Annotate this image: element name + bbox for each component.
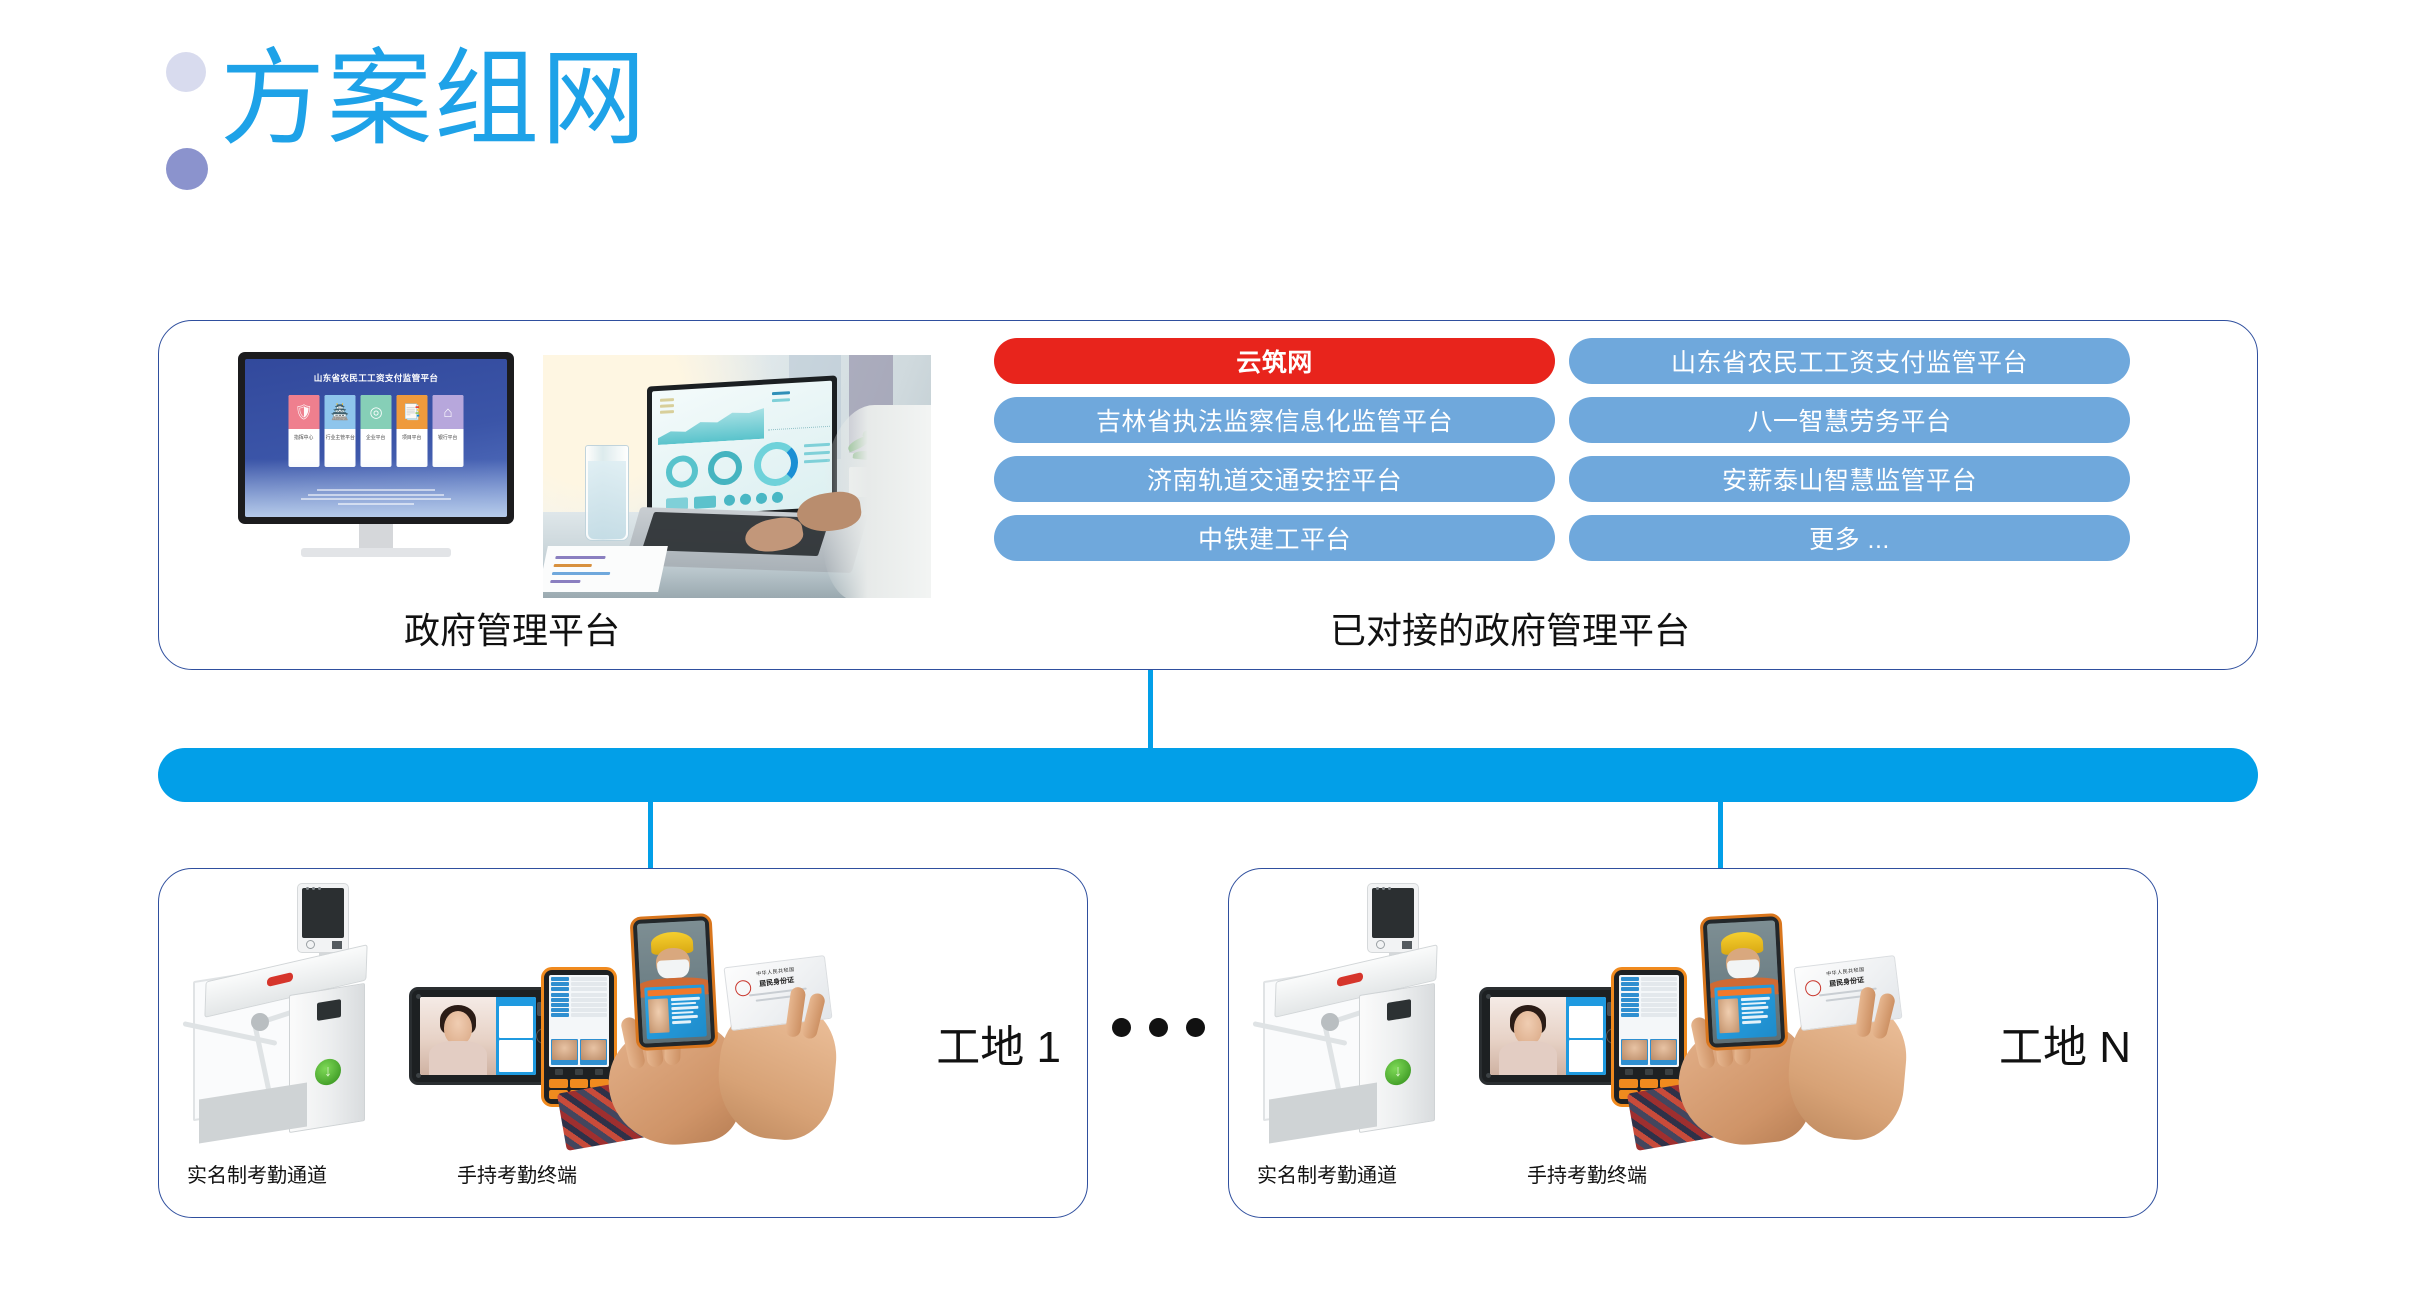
page-title-block: 方案组网 bbox=[158, 20, 958, 195]
connected-platform-button-grid: 云筑网 山东省农民工工资支付监管平台 吉林省执法监察信息化监管平台 八一智慧劳务… bbox=[994, 338, 2130, 574]
platform-button-yunzhuwang[interactable]: 云筑网 bbox=[994, 338, 1555, 384]
turnstile-gate-image: ↓ bbox=[1249, 881, 1459, 1143]
monitor-card: 📑 项目平台 bbox=[397, 395, 428, 467]
monitor-screen-title: 山东省农民工工资支付监管平台 bbox=[245, 372, 507, 384]
monitor-neck bbox=[359, 524, 393, 548]
monitor-card-label: 项目平台 bbox=[402, 435, 421, 442]
ellipsis-dot bbox=[1149, 1018, 1168, 1037]
site-label-1: 工地 1 bbox=[936, 1011, 1061, 1075]
connector-site-1 bbox=[648, 802, 653, 868]
face-recognition-terminal bbox=[1367, 883, 1419, 953]
connector-site-2 bbox=[1718, 802, 1723, 868]
card-reader-icon bbox=[1387, 999, 1411, 1021]
shield-check-icon: 🛡 bbox=[289, 395, 320, 429]
monitor-card: 🛡 指挥中心 bbox=[289, 395, 320, 467]
monitor-card: ◎ 企业平台 bbox=[361, 395, 392, 467]
platform-button-zhongtiejiangong[interactable]: 中铁建工平台 bbox=[994, 515, 1555, 561]
monitor-card: 🏯 行业主管平台 bbox=[325, 395, 356, 467]
bank-house-icon: ⌂ bbox=[433, 395, 464, 429]
camera-lens-icon bbox=[1376, 940, 1385, 949]
smartphone-attendance-app bbox=[1700, 913, 1789, 1051]
worker-info-card bbox=[644, 984, 707, 1039]
laptop-screen bbox=[652, 381, 832, 518]
laptop-dashboard-photo bbox=[543, 355, 931, 598]
ellipsis-dot bbox=[1186, 1018, 1205, 1037]
platform-button-row: 济南轨道交通安控平台 安薪泰山智慧监管平台 bbox=[994, 456, 2130, 502]
ellipsis-dot bbox=[1112, 1018, 1131, 1037]
platform-button-row: 云筑网 山东省农民工工资支付监管平台 bbox=[994, 338, 2130, 384]
turnstile-gate-image: ↓ bbox=[179, 881, 389, 1143]
smartphone-attendance-app bbox=[630, 913, 719, 1051]
decor-dot-bottom-icon bbox=[166, 148, 208, 190]
document-icon: 📑 bbox=[397, 395, 428, 429]
hand-phone-idcard-scene: 中华人民共和国 居民身份证 bbox=[607, 907, 837, 1155]
face-recognition-terminal bbox=[297, 883, 349, 953]
monitor-footer-lines bbox=[245, 487, 507, 508]
monitor-bezel: 山东省农民工工资支付监管平台 🛡 指挥中心 🏯 行业主管平台 ◎ 企业平台 bbox=[238, 352, 514, 524]
caption-connected-platforms: 已对接的政府管理平台 bbox=[1330, 602, 1690, 654]
monitor-card-label: 行业主管平台 bbox=[325, 435, 354, 442]
connector-top bbox=[1148, 670, 1153, 755]
face-mask-icon bbox=[1727, 959, 1760, 979]
tower-icon: 🏯 bbox=[325, 395, 356, 429]
monitor-card-label: 指挥中心 bbox=[294, 435, 313, 442]
site-box-1: ↓ bbox=[158, 868, 1088, 1218]
monitor-card-label: 企业平台 bbox=[366, 435, 385, 442]
government-platform-monitor-image: 山东省农民工工资支付监管平台 🛡 指挥中心 🏯 行业主管平台 ◎ 企业平台 bbox=[232, 352, 520, 567]
rugged-tablet-terminal bbox=[1479, 987, 1631, 1085]
worker-info-card bbox=[1714, 984, 1777, 1039]
sites-ellipsis bbox=[1112, 1018, 1205, 1037]
slide-canvas: 方案组网 山东省农民工工资支付监管平台 🛡 指挥中心 🏯 行业主管平台 ◎ bbox=[0, 0, 2412, 1300]
platform-button-row: 吉林省执法监察信息化监管平台 八一智慧劳务平台 bbox=[994, 397, 2130, 443]
paper-charts bbox=[543, 546, 668, 592]
platform-button-jinan[interactable]: 济南轨道交通安控平台 bbox=[994, 456, 1555, 502]
page-title: 方案组网 bbox=[220, 38, 648, 162]
platform-button-anxintaishan[interactable]: 安薪泰山智慧监管平台 bbox=[1569, 456, 2130, 502]
caption-handheld-2: 手持考勤终端 bbox=[1527, 1159, 1647, 1188]
platform-button-bayi[interactable]: 八一智慧劳务平台 bbox=[1569, 397, 2130, 443]
rugged-tablet-terminal bbox=[409, 987, 561, 1085]
monitor-card: ⌂ 银行平台 bbox=[433, 395, 464, 467]
caption-gate-1: 实名制考勤通道 bbox=[187, 1159, 327, 1188]
camera-lens-icon bbox=[306, 940, 315, 949]
monitor-card-row: 🛡 指挥中心 🏯 行业主管平台 ◎ 企业平台 📑 项目平台 bbox=[289, 395, 464, 467]
decor-dot-top-icon bbox=[166, 52, 206, 92]
target-icon: ◎ bbox=[361, 395, 392, 429]
site-label-2: 工地 N bbox=[1999, 1011, 2131, 1075]
platform-button-more[interactable]: 更多 ... bbox=[1569, 515, 2130, 561]
platform-button-jilin[interactable]: 吉林省执法监察信息化监管平台 bbox=[994, 397, 1555, 443]
monitor-card-label: 银行平台 bbox=[438, 435, 457, 442]
network-bar bbox=[158, 748, 2258, 802]
monitor-screen: 山东省农民工工资支付监管平台 🛡 指挥中心 🏯 行业主管平台 ◎ 企业平台 bbox=[245, 359, 507, 517]
caption-government-platform: 政府管理平台 bbox=[404, 602, 620, 654]
face-mask-icon bbox=[657, 959, 690, 979]
monitor-base bbox=[301, 548, 451, 557]
hand-phone-idcard-scene: 中华人民共和国 居民身份证 bbox=[1677, 907, 1907, 1155]
platform-button-row: 中铁建工平台 更多 ... bbox=[994, 515, 2130, 561]
caption-handheld-1: 手持考勤终端 bbox=[457, 1159, 577, 1188]
caption-gate-2: 实名制考勤通道 bbox=[1257, 1159, 1397, 1188]
site-box-2: ↓ bbox=[1228, 868, 2158, 1218]
platform-button-shandong[interactable]: 山东省农民工工资支付监管平台 bbox=[1569, 338, 2130, 384]
card-reader-icon bbox=[317, 999, 341, 1021]
